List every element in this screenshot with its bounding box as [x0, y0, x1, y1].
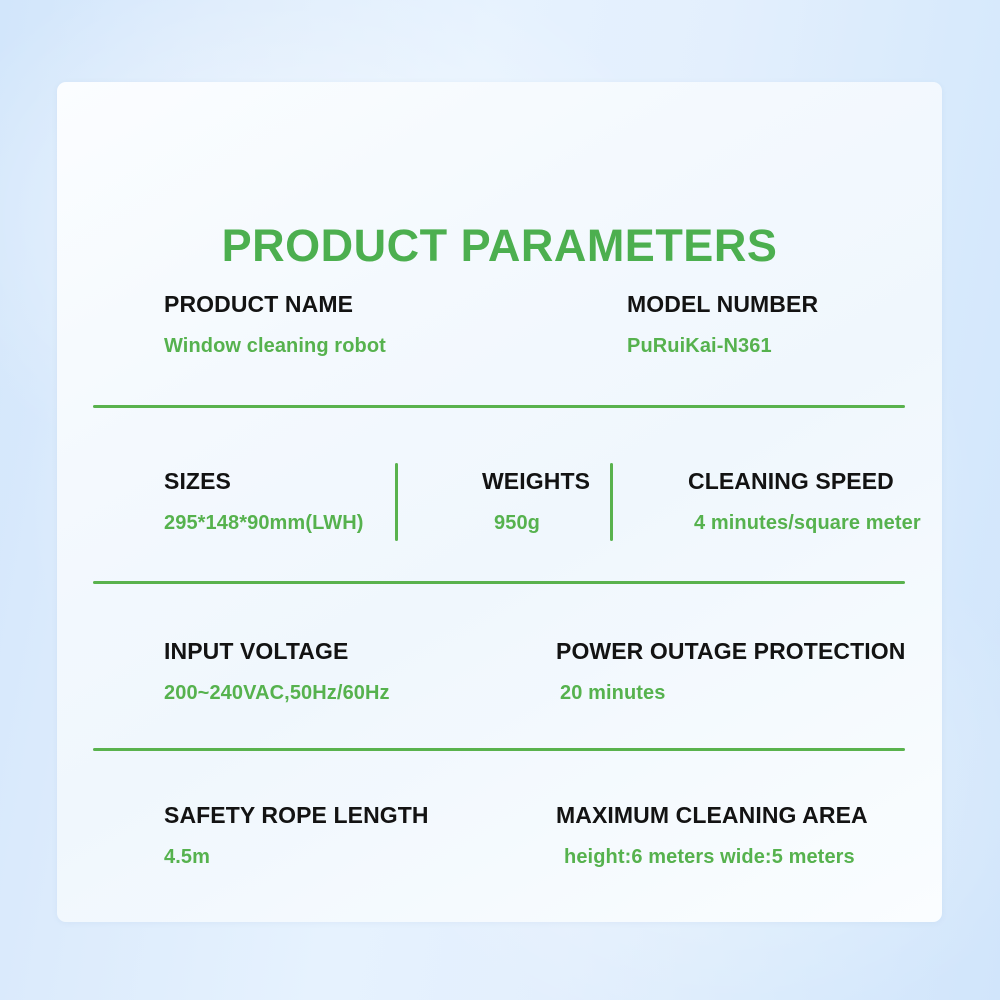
spec-cell-weights: WEIGHTS 950g	[482, 468, 590, 535]
spec-cell-input-voltage: INPUT VOLTAGE 200~240VAC,50Hz/60Hz	[164, 638, 390, 705]
spec-label-input-voltage: INPUT VOLTAGE	[164, 638, 390, 665]
spec-cell-power-outage-protection: POWER OUTAGE PROTECTION 20 minutes	[556, 638, 905, 705]
spec-cell-cleaning-speed: CLEANING SPEED 4 minutes/square meter	[688, 468, 921, 535]
divider-horizontal-2	[93, 581, 905, 584]
spec-label-cleaning-speed: CLEANING SPEED	[688, 468, 921, 495]
spec-label-product-name: PRODUCT NAME	[164, 291, 386, 318]
spec-label-maximum-cleaning-area: MAXIMUM CLEANING AREA	[556, 802, 868, 829]
spec-value-sizes: 295*148*90mm(LWH)	[164, 512, 364, 535]
spec-value-safety-rope-length: 4.5m	[164, 846, 429, 869]
spec-value-power-outage-protection: 20 minutes	[556, 682, 905, 705]
spec-cell-model-number: MODEL NUMBER PuRuiKai-N361	[627, 291, 818, 358]
spec-value-cleaning-speed: 4 minutes/square meter	[688, 512, 921, 535]
spec-value-weights: 950g	[482, 512, 590, 535]
spec-cell-maximum-cleaning-area: MAXIMUM CLEANING AREA height:6 meters wi…	[556, 802, 868, 869]
spec-cell-sizes: SIZES 295*148*90mm(LWH)	[164, 468, 364, 535]
spec-label-power-outage-protection: POWER OUTAGE PROTECTION	[556, 638, 905, 665]
spec-label-safety-rope-length: SAFETY ROPE LENGTH	[164, 802, 429, 829]
divider-vertical-1	[395, 463, 398, 541]
spec-label-sizes: SIZES	[164, 468, 364, 495]
page-title: PRODUCT PARAMETERS	[57, 220, 942, 272]
spec-label-weights: WEIGHTS	[482, 468, 590, 495]
spec-value-input-voltage: 200~240VAC,50Hz/60Hz	[164, 682, 390, 705]
divider-horizontal-3	[93, 748, 905, 751]
product-parameters-card: PRODUCT PARAMETERS PRODUCT NAME Window c…	[57, 82, 942, 922]
spec-value-maximum-cleaning-area: height:6 meters wide:5 meters	[556, 846, 868, 869]
spec-cell-safety-rope-length: SAFETY ROPE LENGTH 4.5m	[164, 802, 429, 869]
spec-value-product-name: Window cleaning robot	[164, 335, 386, 358]
divider-vertical-2	[610, 463, 613, 541]
spec-value-model-number: PuRuiKai-N361	[627, 335, 818, 358]
divider-horizontal-1	[93, 405, 905, 408]
spec-cell-product-name: PRODUCT NAME Window cleaning robot	[164, 291, 386, 358]
spec-label-model-number: MODEL NUMBER	[627, 291, 818, 318]
